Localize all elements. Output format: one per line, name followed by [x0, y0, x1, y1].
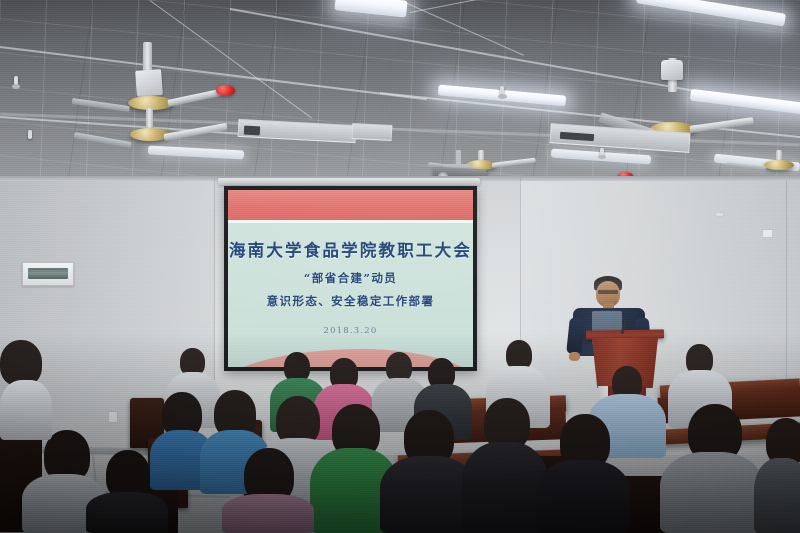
wall-socket-plate: [108, 411, 118, 423]
audience-body: [0, 380, 52, 440]
audience-body: [536, 460, 630, 533]
audience-body: [660, 452, 764, 533]
wall-socket-plate: [715, 212, 724, 217]
sprinkler-head: [12, 84, 20, 89]
projection-screen[interactable]: 海南大学食品学院教职工大会 “部省合建”动员 意识形态、安全稳定工作部署 201…: [224, 186, 477, 371]
ceiling-fan-motor-box: [661, 60, 683, 80]
sprinkler-head: [598, 155, 606, 159]
slide-text-block: 海南大学食品学院教职工大会 “部省合建”动员 意识形态、安全稳定工作部署 201…: [228, 220, 473, 367]
ceiling-fan-motor-box: [135, 69, 163, 97]
ceiling-fan-rod: [143, 42, 152, 72]
air-vent-slot: [244, 126, 260, 136]
wall-socket-plate: [762, 229, 773, 238]
speaker-glasses: [598, 290, 618, 294]
sprinkler-head: [28, 130, 32, 139]
slide-subtitle-2: 意识形态、安全稳定工作部署: [267, 293, 435, 309]
fire-alarm-dome: [216, 85, 235, 96]
audience-body: [222, 494, 314, 533]
screen-roller-case: [218, 178, 480, 185]
conference-room-photo: 海南大学食品学院教职工大会 “部省合建”动员 意识形态、安全稳定工作部署 201…: [0, 0, 800, 533]
speaker-hand: [569, 352, 580, 361]
audience-body: [754, 458, 800, 533]
sprinkler-head: [498, 94, 507, 99]
slide-subtitle-1: “部省合建”动员: [304, 270, 397, 286]
air-conditioning-vent: [352, 123, 393, 141]
slide-content: 海南大学食品学院教职工大会 “部省合建”动员 意识形态、安全稳定工作部署 201…: [228, 190, 473, 367]
ceiling-fan-hub: [764, 160, 794, 170]
electrical-panel-window: [28, 268, 68, 279]
slide-title: 海南大学食品学院教职工大会: [229, 237, 472, 261]
slide-top-band: [228, 190, 473, 220]
slide-date: 2018.3.20: [323, 326, 377, 336]
audience-body: [86, 492, 168, 533]
